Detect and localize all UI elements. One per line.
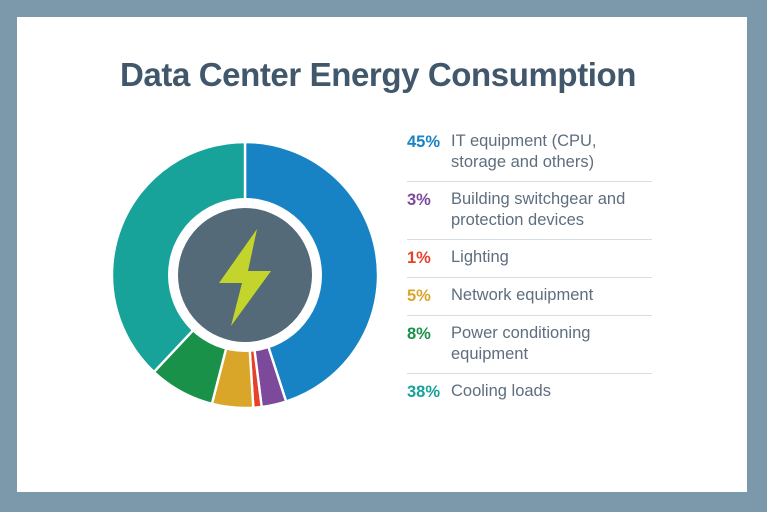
legend-item[interactable]: 5%Network equipment <box>407 278 652 316</box>
legend-label: Network equipment <box>447 285 652 306</box>
legend-item[interactable]: 45%IT equipment (CPU, storage and others… <box>407 124 652 182</box>
content-panel: Data Center Energy Consumption 45%IT equ… <box>17 17 747 492</box>
legend-percent: 5% <box>407 285 447 307</box>
legend-item[interactable]: 8%Power conditioning equipment <box>407 316 652 374</box>
legend-label: Lighting <box>447 247 652 268</box>
legend-percent: 38% <box>407 381 447 403</box>
legend-percent: 45% <box>407 131 447 153</box>
legend-label: Power conditioning equipment <box>447 323 652 365</box>
donut-chart-svg <box>100 130 390 420</box>
legend-label: Cooling loads <box>447 381 652 402</box>
legend-percent: 8% <box>407 323 447 345</box>
legend-percent: 1% <box>407 247 447 269</box>
page-title: Data Center Energy Consumption <box>120 56 636 94</box>
legend-percent: 3% <box>407 189 447 211</box>
legend-item[interactable]: 3%Building switchgear and protection dev… <box>407 182 652 240</box>
legend-label: IT equipment (CPU, storage and others) <box>447 131 652 173</box>
legend-item[interactable]: 38%Cooling loads <box>407 374 652 411</box>
legend-item[interactable]: 1%Lighting <box>407 240 652 278</box>
infographic-frame: Data Center Energy Consumption 45%IT equ… <box>0 0 767 512</box>
legend: 45%IT equipment (CPU, storage and others… <box>407 124 652 411</box>
donut-chart <box>100 130 390 420</box>
legend-label: Building switchgear and protection devic… <box>447 189 652 231</box>
